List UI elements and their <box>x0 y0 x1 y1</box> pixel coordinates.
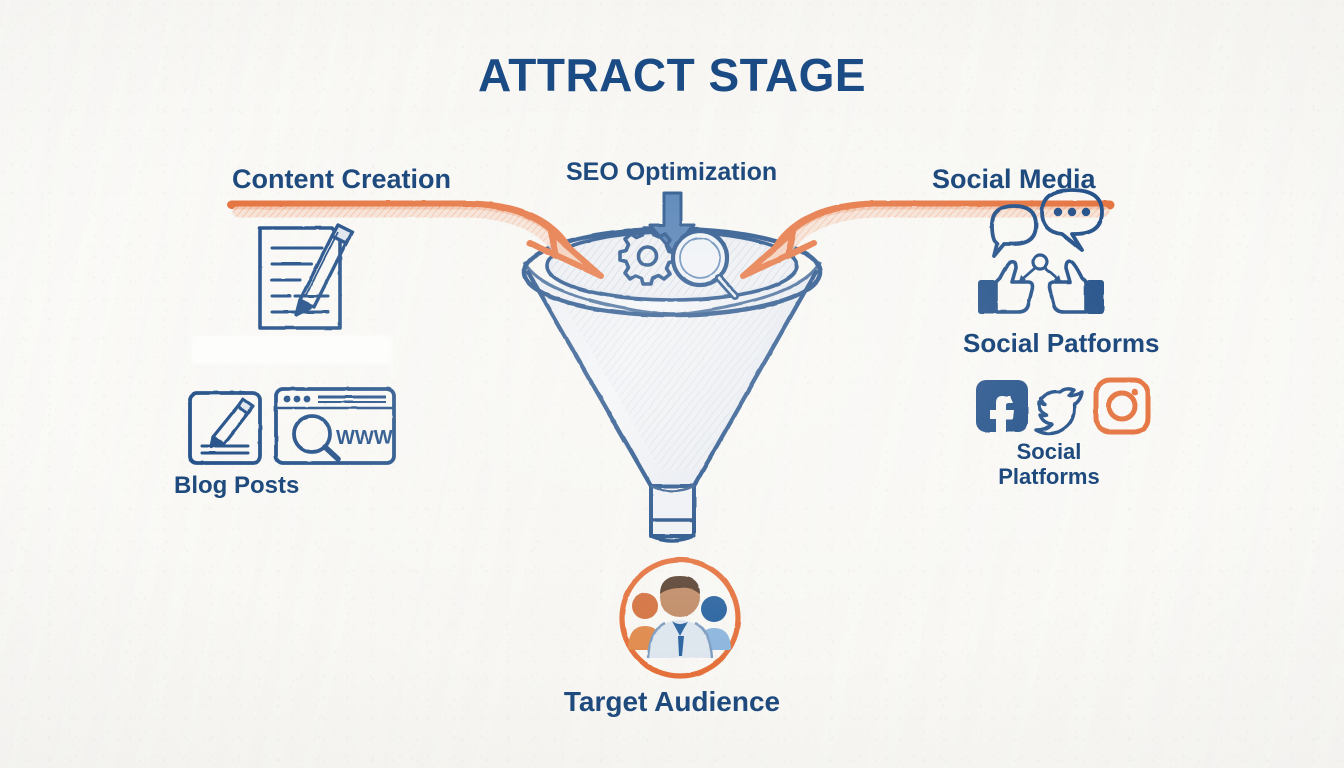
diagram-canvas: WWW. <box>0 0 1344 768</box>
instagram-icon[interactable] <box>1096 380 1148 432</box>
facebook-icon[interactable] <box>976 380 1028 432</box>
thumbs-up-icon <box>978 261 1033 314</box>
twitter-icon[interactable] <box>1036 389 1082 434</box>
label-social-platforms-caption: Social Platforms <box>984 440 1114 489</box>
label-social-media: Social Media <box>932 164 1096 195</box>
speech-bubble-dots-icon <box>1042 190 1102 250</box>
label-social-platforms-caption-line1: Social <box>984 440 1114 465</box>
thumbs-up-icon <box>1050 261 1105 314</box>
diagram-artwork: WWW. <box>0 0 1344 768</box>
www-text: WWW. <box>336 427 397 449</box>
label-content-creation: Content Creation <box>232 164 451 195</box>
label-social-platforms-heading: Social Patforms <box>963 328 1160 359</box>
pen-square-icon <box>190 393 260 463</box>
network-node-icon <box>1019 255 1061 282</box>
page-title: ATTRACT STAGE <box>0 48 1344 102</box>
label-blog-posts: Blog Posts <box>174 472 299 500</box>
label-target-audience: Target Audience <box>0 686 1344 718</box>
people-group-icon <box>622 560 738 676</box>
funnel-icon <box>524 229 820 541</box>
browser-search-icon: WWW. <box>276 389 397 463</box>
label-seo-optimization: SEO Optimization <box>566 158 777 187</box>
label-social-platforms-caption-line2: Platforms <box>984 465 1114 490</box>
document-pencil-icon <box>260 225 352 328</box>
paper-smudge <box>192 336 392 364</box>
